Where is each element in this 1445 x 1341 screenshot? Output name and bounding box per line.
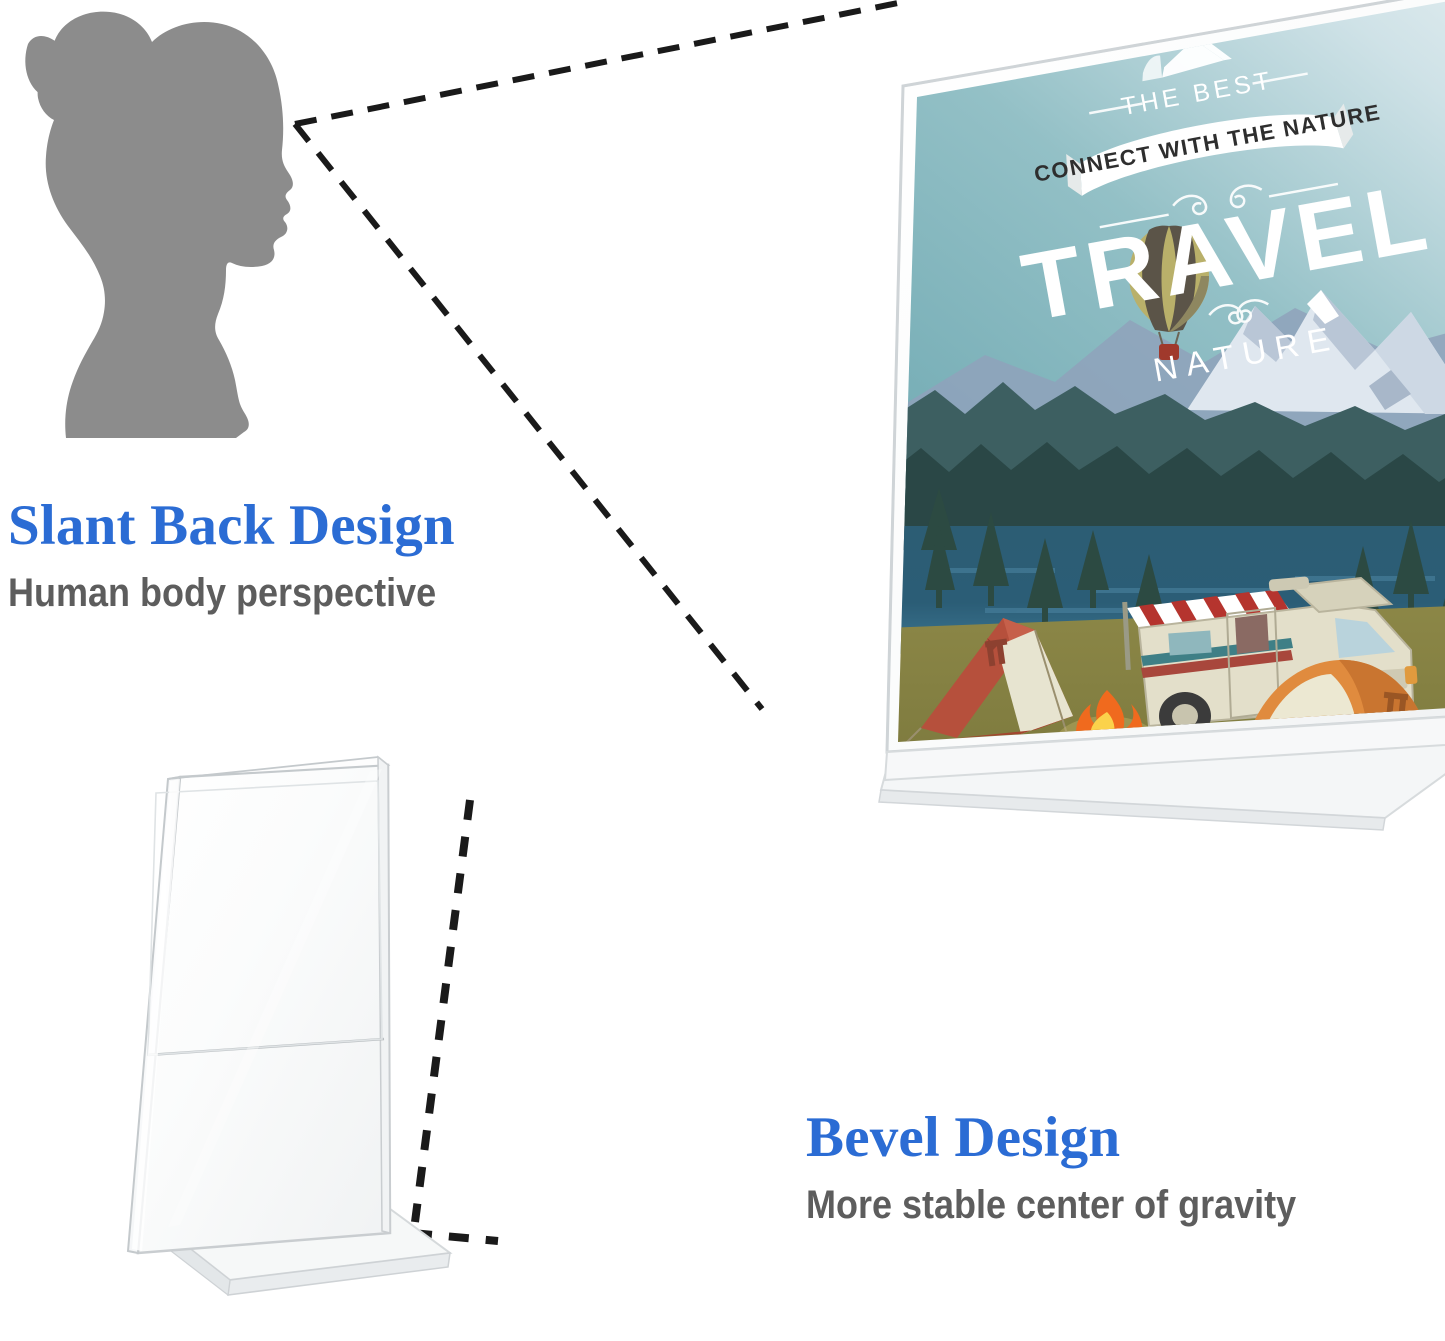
van-side-window — [1168, 631, 1211, 656]
slant-back-sign-holder-with-poster: THE BEST CONNECT WITH THE NATURE — [735, 0, 1445, 870]
van-headlight — [1404, 666, 1417, 685]
slant-back-subtitle: Human body perspective — [8, 570, 436, 616]
callout-slant-back: Slant Back Design Human body perspective — [8, 496, 484, 616]
empty-slant-back-sign-holder — [120, 755, 540, 1330]
holder-front-panel — [138, 765, 390, 1253]
sight-line-lower — [295, 124, 762, 709]
callout-bevel: Bevel Design More stable center of gravi… — [806, 1108, 1351, 1228]
travel-nature-poster: THE BEST CONNECT WITH THE NATURE — [885, 0, 1445, 815]
bevel-title: Bevel Design — [806, 1108, 1351, 1168]
bevel-subtitle: More stable center of gravity — [806, 1182, 1296, 1228]
slant-back-title: Slant Back Design — [8, 496, 484, 556]
infographic-canvas: THE BEST CONNECT WITH THE NATURE — [0, 0, 1445, 1341]
woman-head-profile-icon — [0, 0, 345, 440]
silhouette-path — [38, 12, 293, 438]
van-door-window — [1235, 614, 1269, 654]
